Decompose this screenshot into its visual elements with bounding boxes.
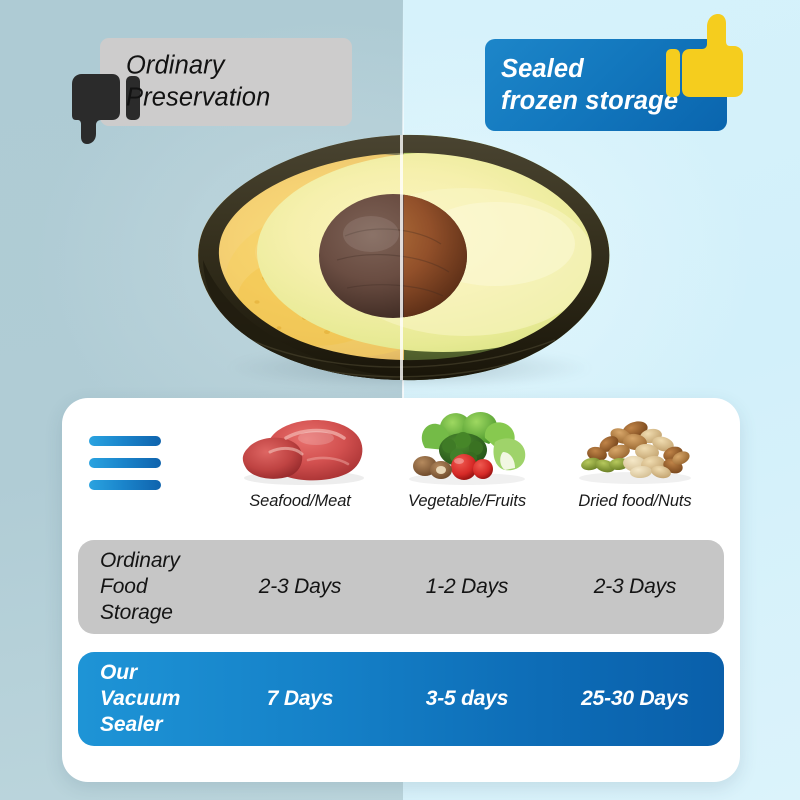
column-label-vegetable-fruits: Vegetable/Fruits	[379, 492, 555, 511]
row-title-vacuum: Our Vacuum Sealer	[100, 660, 180, 738]
badge-ordinary-preservation: Ordinary Preservation	[34, 38, 320, 126]
badge-sealed-label: Sealed frozen storage	[501, 53, 678, 117]
column-header-seafood-meat: Seafood/Meat	[212, 408, 388, 511]
cell-vacuum-dried-food-nuts: 25-30 Days	[547, 687, 723, 711]
raw-meat-image	[212, 408, 388, 486]
table-row-our-vacuum-sealer: Our Vacuum Sealer 7 Days 3-5 days 25-30 …	[78, 652, 724, 746]
column-header-dried-food-nuts: Dried food/Nuts	[547, 408, 723, 511]
cell-vacuum-seafood-meat: 7 Days	[212, 687, 388, 711]
avocado-comparison-image	[195, 132, 613, 400]
table-row-ordinary-food-storage: Ordinary Food Storage 2-3 Days 1-2 Days …	[78, 540, 724, 634]
infographic-root: Ordinary Preservation Sealed frozen stor…	[0, 0, 800, 800]
comparison-card: Seafood/Meat	[62, 398, 740, 782]
row-title-ordinary: Ordinary Food Storage	[100, 548, 180, 626]
cell-ordinary-dried-food-nuts: 2-3 Days	[547, 575, 723, 599]
mixed-nuts-image	[547, 408, 723, 486]
badge-ordinary-label: Ordinary Preservation	[126, 50, 270, 115]
table-header-row: Seafood/Meat	[62, 398, 740, 528]
vegetables-image	[379, 408, 555, 486]
cell-ordinary-vegetable-fruits: 1-2 Days	[379, 575, 555, 599]
column-header-vegetable-fruits: Vegetable/Fruits	[379, 408, 555, 511]
cell-vacuum-vegetable-fruits: 3-5 days	[379, 687, 555, 711]
column-label-seafood-meat: Seafood/Meat	[212, 492, 388, 511]
hamburger-bar-2	[89, 458, 161, 468]
thumbs-up-icon	[666, 13, 744, 101]
hamburger-menu-icon[interactable]	[89, 436, 161, 490]
badge-sealed-frozen-storage: Sealed frozen storage	[485, 39, 740, 131]
hamburger-bar-3	[89, 480, 161, 490]
avocado-graphic	[195, 132, 613, 386]
cell-ordinary-seafood-meat: 2-3 Days	[212, 575, 388, 599]
hamburger-bar-1	[89, 436, 161, 446]
column-label-dried-food-nuts: Dried food/Nuts	[547, 492, 723, 511]
